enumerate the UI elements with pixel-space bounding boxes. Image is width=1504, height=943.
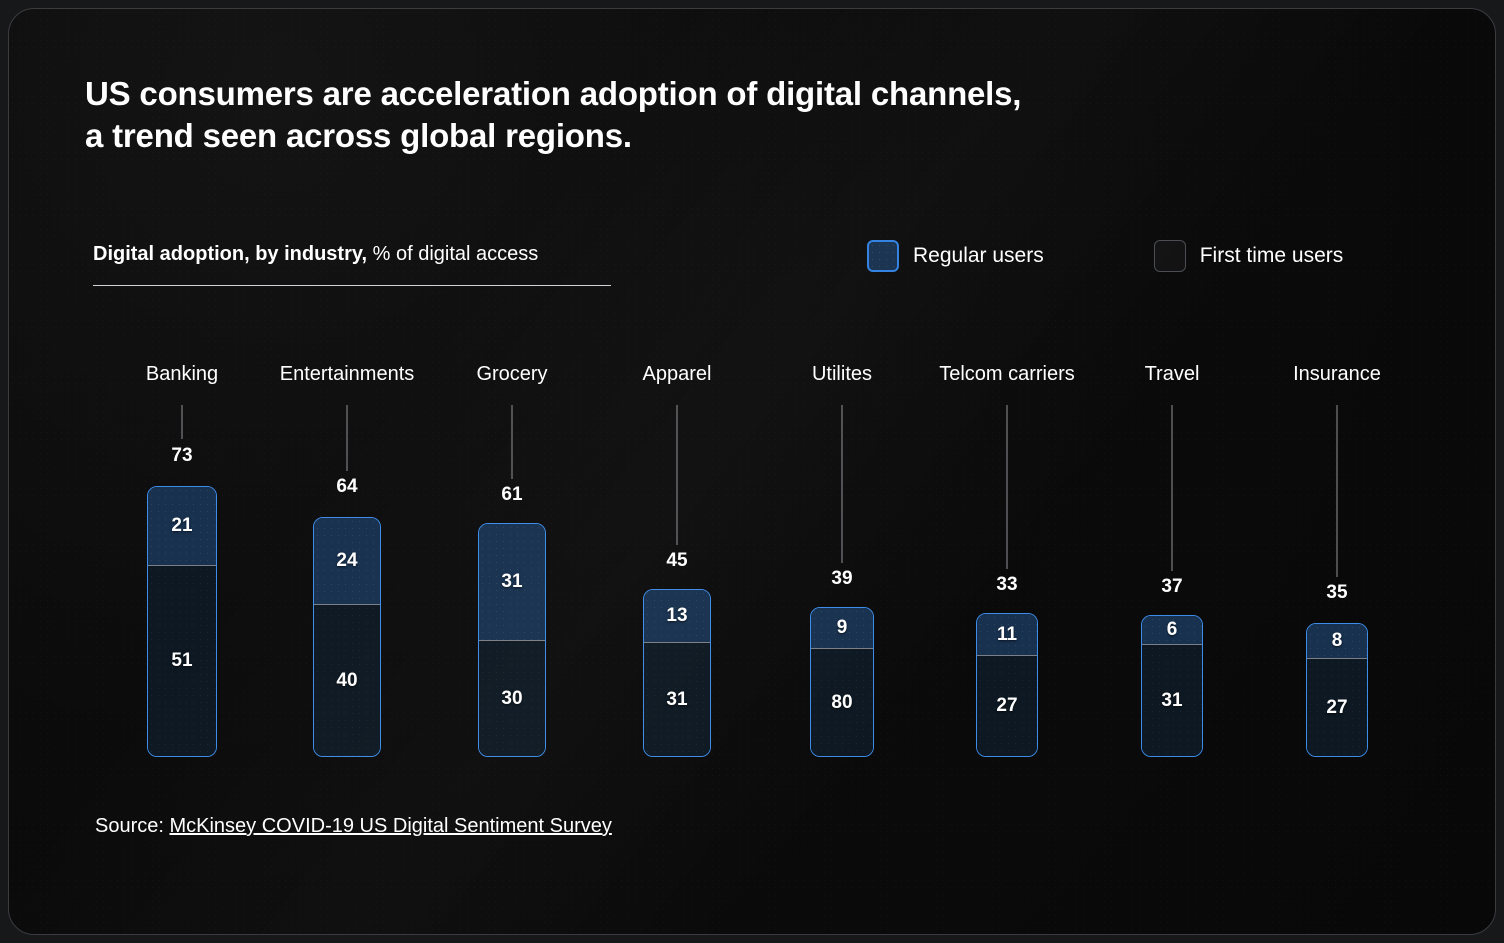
leader-line: [182, 405, 183, 439]
source-prefix: Source:: [95, 815, 169, 837]
chart-plot-area: Banking732151Entertainments642440Grocery…: [9, 9, 1495, 934]
segment-value-regular: 6: [1167, 619, 1178, 641]
bar-segment-regular-users[interactable]: 13: [644, 590, 710, 642]
stacked-bar[interactable]: 631: [1141, 615, 1203, 757]
segment-value-regular: 13: [666, 605, 687, 627]
segment-value-regular: 11: [997, 624, 1017, 646]
leader-line: [347, 405, 348, 471]
leader-line: [1007, 405, 1008, 569]
segment-value-regular: 24: [336, 550, 357, 572]
bar-total-value: 33: [996, 574, 1017, 596]
category-label: Banking: [146, 363, 218, 386]
segment-value-regular: 31: [501, 571, 522, 593]
bar-segment-regular-users[interactable]: 6: [1142, 616, 1202, 644]
bar-segment-regular-users[interactable]: 24: [314, 518, 380, 604]
bar-segment-first-time-users[interactable]: 31: [1142, 644, 1202, 756]
bar-total-value: 73: [171, 445, 192, 467]
segment-value-regular: 8: [1332, 630, 1343, 652]
bar-segment-first-time-users[interactable]: 27: [1307, 658, 1367, 756]
category-label: Insurance: [1293, 363, 1381, 386]
segment-value-firsttime: 31: [666, 689, 687, 711]
bar-segment-regular-users[interactable]: 11: [977, 614, 1037, 655]
stacked-bar[interactable]: 2151: [147, 486, 217, 757]
bar-segment-regular-users[interactable]: 8: [1307, 624, 1367, 658]
segment-value-firsttime: 31: [1161, 690, 1182, 712]
bar-segment-regular-users[interactable]: 21: [148, 487, 216, 565]
bar-segment-first-time-users[interactable]: 30: [479, 640, 545, 756]
category-label: Travel: [1145, 363, 1200, 386]
bar-total-value: 64: [336, 476, 357, 498]
stacked-bar[interactable]: 827: [1306, 623, 1368, 757]
leader-line: [512, 405, 513, 479]
chart-card: US consumers are acceleration adoption o…: [8, 8, 1496, 935]
bar-segment-regular-users[interactable]: 9: [811, 608, 873, 648]
stacked-bar[interactable]: 1331: [643, 589, 711, 757]
bar-segment-first-time-users[interactable]: 51: [148, 565, 216, 756]
bar-total-value: 45: [666, 550, 687, 572]
category-label: Entertainments: [280, 363, 415, 386]
stacked-bar[interactable]: 980: [810, 607, 874, 757]
stacked-bar[interactable]: 2440: [313, 517, 381, 757]
segment-value-regular: 21: [171, 515, 192, 537]
segment-value-firsttime: 27: [1326, 697, 1347, 719]
category-label: Grocery: [476, 363, 547, 386]
bar-total-value: 39: [831, 568, 852, 590]
leader-line: [1337, 405, 1338, 577]
category-label: Telcom carriers: [939, 363, 1075, 386]
segment-value-firsttime: 30: [501, 688, 522, 710]
leader-line: [842, 405, 843, 563]
bar-total-value: 35: [1326, 582, 1347, 604]
segment-value-regular: 9: [837, 617, 848, 639]
source-note: Source: McKinsey COVID-19 US Digital Sen…: [95, 815, 612, 838]
segment-value-firsttime: 80: [831, 692, 852, 714]
stacked-bar[interactable]: 3130: [478, 523, 546, 757]
category-label: Apparel: [643, 363, 712, 386]
bar-segment-first-time-users[interactable]: 40: [314, 604, 380, 756]
bar-total-value: 37: [1161, 576, 1182, 598]
segment-value-firsttime: 27: [996, 695, 1017, 717]
leader-line: [677, 405, 678, 545]
bar-segment-first-time-users[interactable]: 27: [977, 655, 1037, 756]
bar-segment-first-time-users[interactable]: 31: [644, 642, 710, 756]
bar-segment-first-time-users[interactable]: 80: [811, 648, 873, 756]
leader-line: [1172, 405, 1173, 571]
bar-segment-regular-users[interactable]: 31: [479, 524, 545, 640]
bar-total-value: 61: [501, 484, 522, 506]
segment-value-firsttime: 51: [171, 650, 192, 672]
category-label: Utilites: [812, 363, 872, 386]
stacked-bar[interactable]: 1127: [976, 613, 1038, 757]
segment-value-firsttime: 40: [336, 670, 357, 692]
source-link[interactable]: McKinsey COVID-19 US Digital Sentiment S…: [169, 815, 611, 837]
